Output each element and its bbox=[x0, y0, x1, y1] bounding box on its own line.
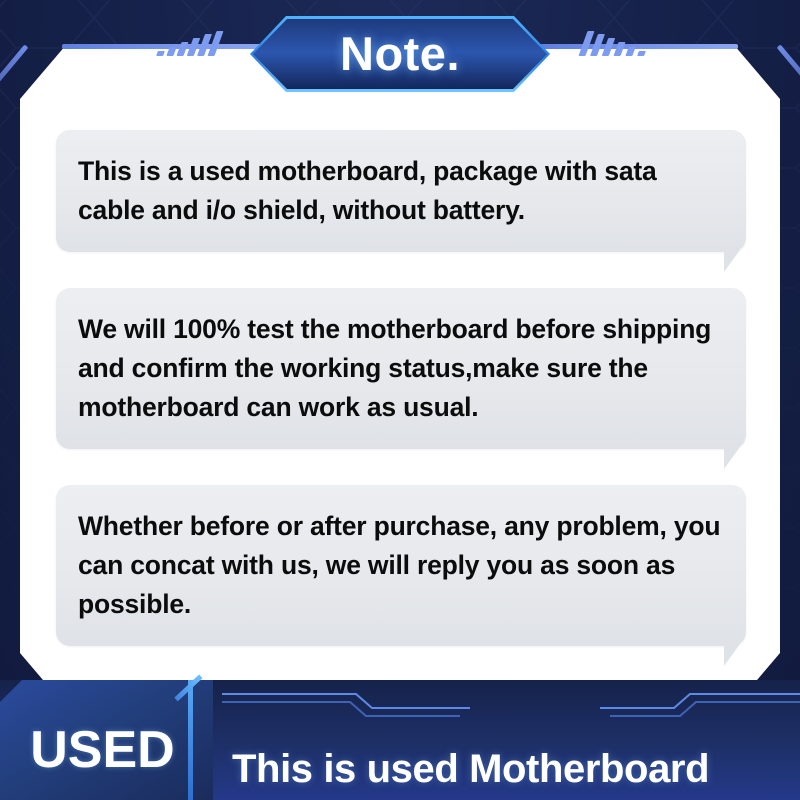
note-text-3: Whether before or after purchase, any pr… bbox=[78, 507, 722, 624]
note-bubble-1: This is a used motherboard, package with… bbox=[56, 130, 746, 252]
used-badge-label: USED bbox=[30, 720, 174, 780]
footer-bar: USED This is used Motherboard bbox=[0, 680, 800, 800]
slash-decoration-left bbox=[157, 30, 219, 56]
slash-decoration-right bbox=[583, 30, 645, 56]
note-text-2: We will 100% test the motherboard before… bbox=[78, 310, 722, 427]
note-text-1: This is a used motherboard, package with… bbox=[78, 152, 722, 230]
note-card: Note. This is a used motherboard, packag… bbox=[0, 0, 800, 800]
note-bubble-3: Whether before or after purchase, any pr… bbox=[56, 485, 746, 646]
used-badge-edge bbox=[188, 680, 193, 800]
note-list: This is a used motherboard, package with… bbox=[56, 130, 746, 682]
footer-caption: This is used Motherboard bbox=[232, 747, 709, 792]
note-banner: Note. bbox=[253, 19, 547, 89]
page-title: Note. bbox=[340, 30, 460, 77]
note-bubble-2: We will 100% test the motherboard before… bbox=[56, 288, 746, 449]
